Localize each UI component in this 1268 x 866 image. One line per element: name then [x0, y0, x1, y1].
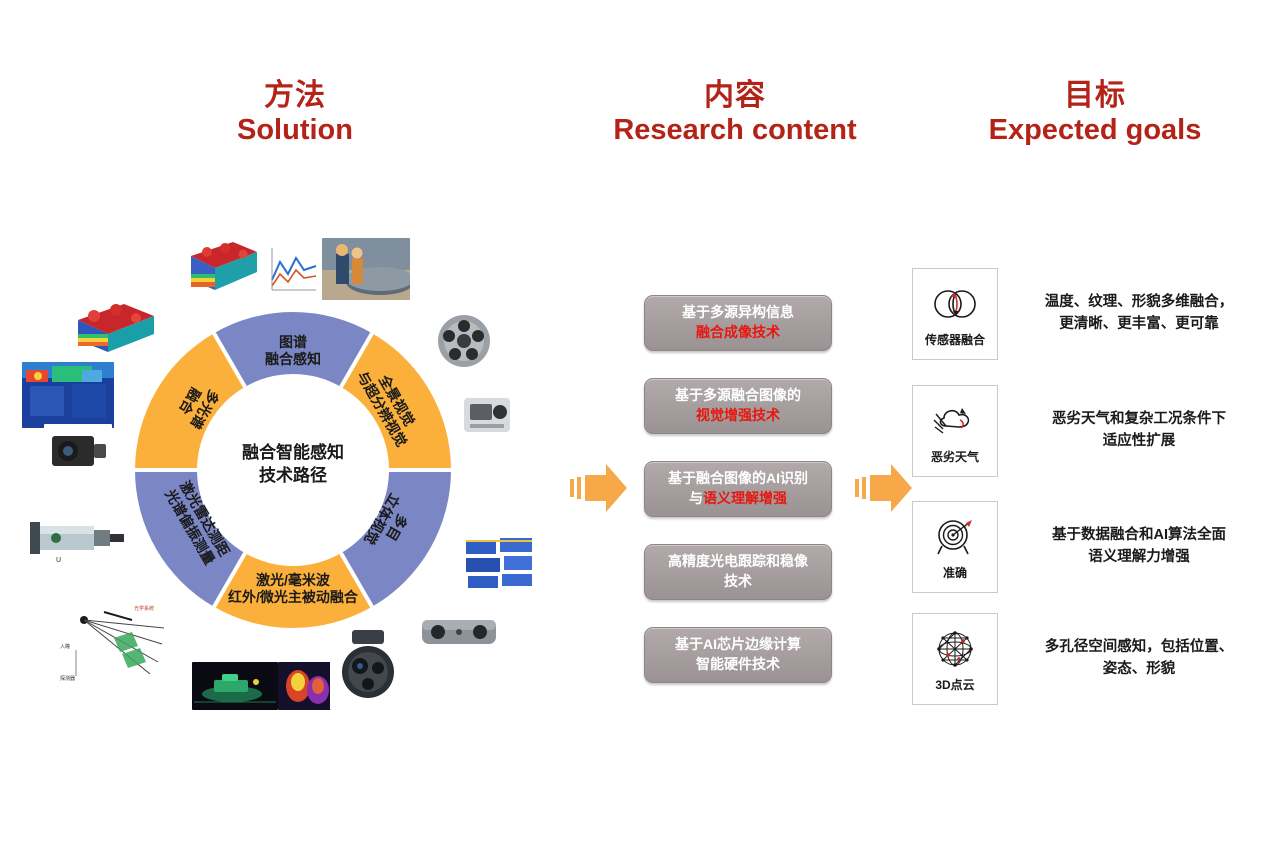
content-box-3-line1: 高精度光电跟踪和稳像: [668, 552, 808, 572]
wheel-center-line2: 技术路径: [211, 465, 375, 488]
column-header-solution: 方法 Solution: [165, 78, 425, 148]
wheel-label-bottom: 激光/毫米波 红外/微光主被动融合: [193, 572, 393, 606]
goal-card-accuracy[interactable]: 准确: [912, 501, 998, 593]
content-box-ai-recognition[interactable]: 基于融合图像的AI识别 与语义理解增强: [644, 461, 832, 517]
goal-text-1-line2: 适应性扩展: [1052, 431, 1226, 453]
content-box-0-line1: 基于多源异构信息: [682, 303, 794, 323]
content-box-fusion-imaging[interactable]: 基于多源异构信息 融合成像技术: [644, 295, 832, 351]
goal-text-1-line1: 恶劣天气和复杂工况条件下: [1052, 409, 1226, 431]
goal-row-accuracy: 准确 基于数据融合和AI算法全面 语义理解力增强: [912, 501, 1262, 593]
arrow-content-to-goals: [855, 462, 913, 514]
column-header-content-en: Research content: [570, 113, 900, 147]
goal-card-1-caption: 恶劣天气: [931, 448, 979, 465]
content-box-optical-tracking[interactable]: 高精度光电跟踪和稳像 技术: [644, 544, 832, 600]
content-box-4-line1: 基于AI芯片边缘计算: [675, 635, 801, 655]
wheel-label-top-line1: 图谱: [243, 334, 343, 351]
svg-text:入瞳: 入瞳: [60, 643, 70, 650]
severe-weather-icon: [932, 398, 978, 444]
content-box-1-line2: 视觉增强技术: [675, 406, 801, 426]
goal-text-2-line1: 基于数据融合和AI算法全面: [1052, 525, 1226, 547]
goal-row-sensor-fusion: 传感器融合 温度、纹理、形貌多维融合， 更清晰、更丰富、更可靠: [912, 268, 1262, 360]
column-header-solution-cn: 方法: [165, 78, 425, 113]
goal-text-accuracy: 基于数据融合和AI算法全面 语义理解力增强: [1016, 501, 1262, 593]
wheel-label-bottom-line1: 激光/毫米波: [193, 572, 393, 589]
svg-text:探测器: 探测器: [60, 675, 75, 682]
content-box-3-line2: 技术: [668, 572, 808, 592]
laser-module-photo: U: [26, 508, 130, 568]
point-cloud-brick-image: [462, 530, 538, 592]
goal-text-severe-weather: 恶劣天气和复杂工况条件下 适应性扩展: [1016, 385, 1262, 477]
goal-card-sensor-fusion[interactable]: 传感器融合: [912, 268, 998, 360]
wheel-label-top: 图谱 融合感知: [243, 334, 343, 368]
goal-text-point-cloud: 多孔径空间感知，包括位置、 姿态、形貌: [1016, 613, 1262, 705]
goal-row-point-cloud: 3D点云 多孔径空间感知，包括位置、 姿态、形貌: [912, 613, 1262, 705]
column-header-goals: 目标 Expected goals: [930, 78, 1260, 148]
thermal-scene-image: [22, 362, 114, 428]
goal-card-0-caption: 传感器融合: [925, 331, 985, 348]
goal-card-point-cloud[interactable]: 3D点云: [912, 613, 998, 705]
lidar-scan-night-image: [192, 662, 278, 710]
hyperspectral-cube-top: [185, 238, 263, 300]
point-cloud-icon: [933, 626, 977, 672]
goal-text-3-line1: 多孔径空间感知，包括位置、: [1045, 637, 1234, 659]
fusion-technology-wheel: 图谱 融合感知 全景视觉 与超分辨视觉 多目 立体视觉 激光/毫米波 红外/微光…: [133, 310, 453, 630]
column-header-content: 内容 Research content: [570, 78, 900, 148]
content-box-visual-enhancement[interactable]: 基于多源融合图像的 视觉增强技术: [644, 378, 832, 434]
goal-card-severe-weather[interactable]: 恶劣天气: [912, 385, 998, 477]
goal-row-severe-weather: 恶劣天气 恶劣天气和复杂工况条件下 适应性扩展: [912, 385, 1262, 477]
content-box-4-line2: 智能硬件技术: [675, 655, 801, 675]
svg-text:U: U: [56, 556, 61, 564]
arrow-solution-to-content: [570, 462, 628, 514]
industrial-camera-photo: [44, 424, 112, 478]
goal-text-sensor-fusion: 温度、纹理、形貌多维融合， 更清晰、更丰富、更可靠: [1016, 268, 1262, 360]
goal-text-0-line1: 温度、纹理、形貌多维融合，: [1045, 292, 1234, 314]
goal-text-0-line2: 更清晰、更丰富、更可靠: [1045, 314, 1234, 336]
goal-text-2-line2: 语义理解力增强: [1052, 547, 1226, 569]
content-box-edge-computing[interactable]: 基于AI芯片边缘计算 智能硬件技术: [644, 627, 832, 683]
wheel-center-label: 融合智能感知 技术路径: [211, 442, 375, 488]
column-header-solution-en: Solution: [165, 113, 425, 147]
wheel-label-top-line2: 融合感知: [243, 351, 343, 368]
content-box-2-line1: 基于融合图像的AI识别: [668, 469, 808, 489]
goal-card-2-caption: 准确: [943, 564, 967, 581]
content-box-2-line2: 与语义理解增强: [668, 489, 808, 509]
thermal-portrait-image: [278, 662, 336, 710]
optical-instrument-photo: [458, 388, 516, 442]
spectral-signal-plot: [268, 240, 320, 296]
gimbal-turret-photo: [330, 624, 406, 710]
goal-card-3-caption: 3D点云: [935, 676, 974, 693]
pipeline-inspection-photo: [322, 238, 410, 300]
column-header-goals-en: Expected goals: [930, 113, 1260, 147]
content-box-2-highlight: 语义理解增强: [703, 490, 787, 506]
column-header-content-cn: 内容: [570, 78, 900, 113]
sensor-fusion-icon: [930, 281, 980, 327]
column-header-goals-cn: 目标: [930, 78, 1260, 113]
content-box-0-line2: 融合成像技术: [682, 323, 794, 343]
content-box-1-line1: 基于多源融合图像的: [675, 386, 801, 406]
goal-text-3-line2: 姿态、形貌: [1045, 659, 1234, 681]
content-box-2-prefix: 与: [689, 490, 703, 506]
wheel-label-bottom-line2: 红外/微光主被动融合: [193, 589, 393, 606]
target-accuracy-icon: [932, 514, 978, 560]
wheel-center-line1: 融合智能感知: [211, 442, 375, 465]
